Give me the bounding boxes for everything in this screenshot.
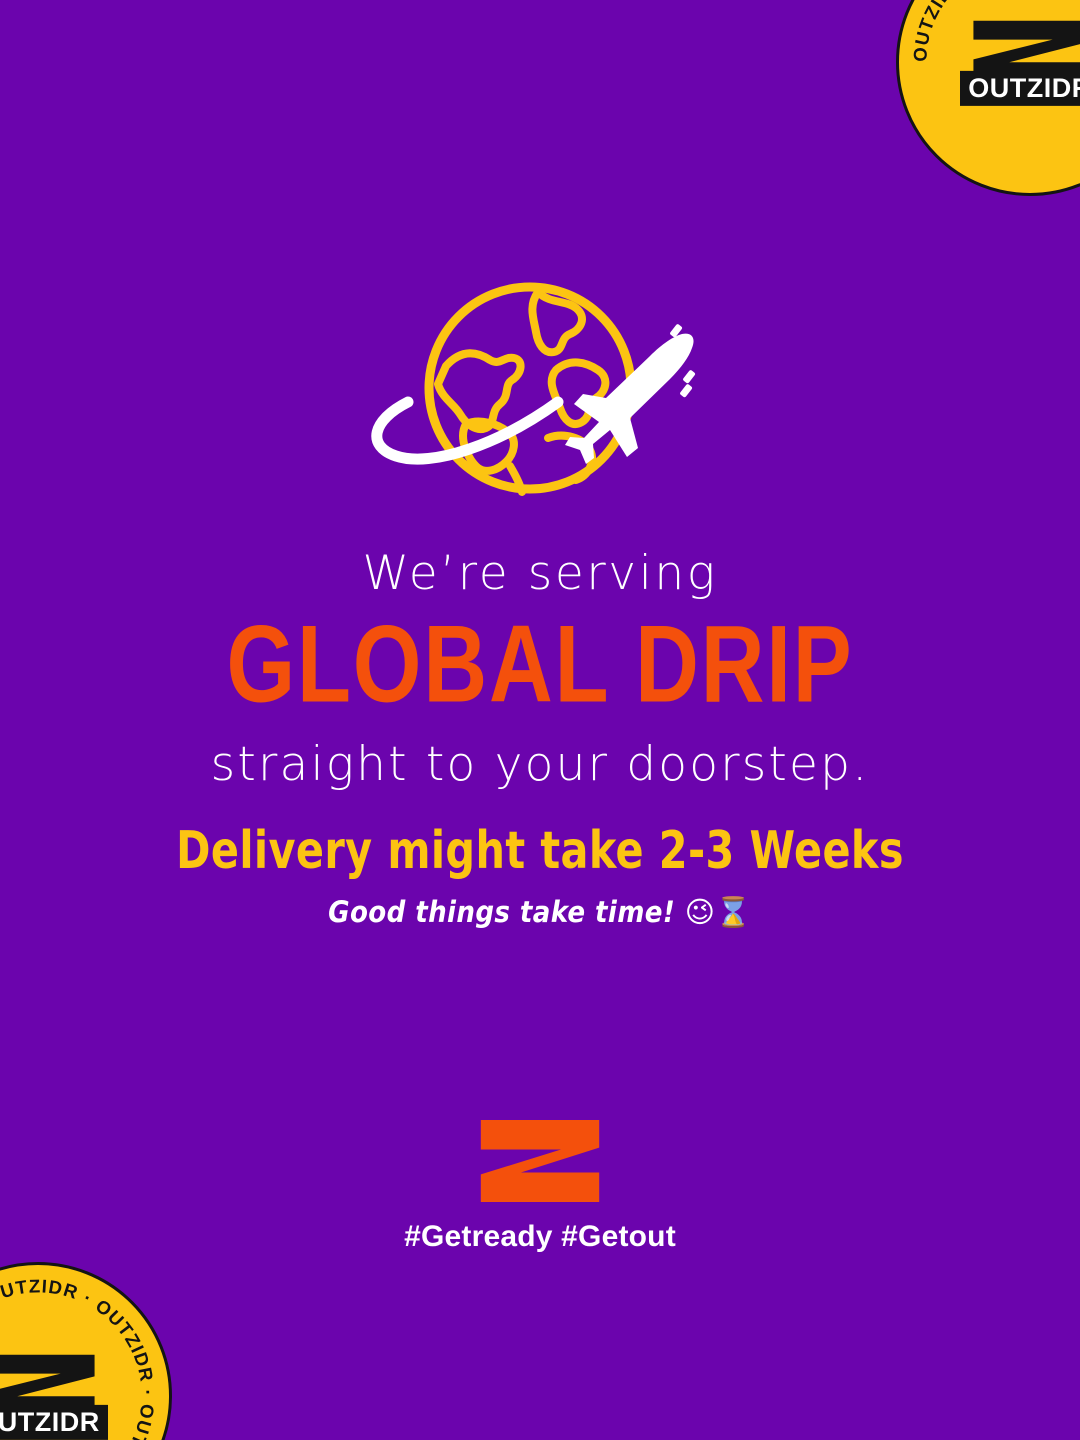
outzidr-badge-bottom-left: OUTZIDR · OUTZIDR · OUTZIDR · OUTZIDR · … bbox=[0, 1262, 172, 1440]
subline-text: straight to your doorstep. bbox=[0, 739, 1080, 792]
badge-wordmark-label: OUTZIDR bbox=[0, 1405, 108, 1440]
delivery-time-text: Delivery might take 2-3 Weeks bbox=[0, 822, 1080, 879]
wink-hourglass-emoji: 😉⌛ bbox=[685, 895, 752, 929]
poster-canvas: OUTZIDR · OUTZIDR · OUTZIDR · OUTZIDR · … bbox=[0, 0, 1080, 1440]
hashtags-text: #Getready #Getout bbox=[0, 1220, 1080, 1254]
footer-brand-block: #Getready #Getout bbox=[0, 1118, 1080, 1254]
delivery-notice-block: Delivery might take 2-3 Weeks Good thing… bbox=[0, 822, 1080, 928]
reassurance-text: Good things take time! 😉⌛ bbox=[0, 897, 1080, 929]
headline-copy-block: We’re serving GLOBAL DRIP straight to yo… bbox=[0, 548, 1080, 791]
reassurance-label: Good things take time! bbox=[328, 895, 675, 929]
outzidr-z-logo bbox=[477, 1118, 603, 1204]
outzidr-badge-top-right: OUTZIDR · OUTZIDR · OUTZIDR · OUTZIDR · … bbox=[896, 0, 1080, 196]
badge-wordmark-label: OUTZIDR bbox=[960, 71, 1080, 106]
eyebrow-text: We’re serving bbox=[0, 548, 1080, 601]
globe-airplane-icon bbox=[350, 278, 730, 518]
page-title: GLOBAL DRIP bbox=[43, 610, 1037, 719]
badge-core-top-right: OUTZIDR bbox=[951, 18, 1080, 106]
badge-core-bottom-left: OUTZIDR bbox=[0, 1352, 117, 1440]
